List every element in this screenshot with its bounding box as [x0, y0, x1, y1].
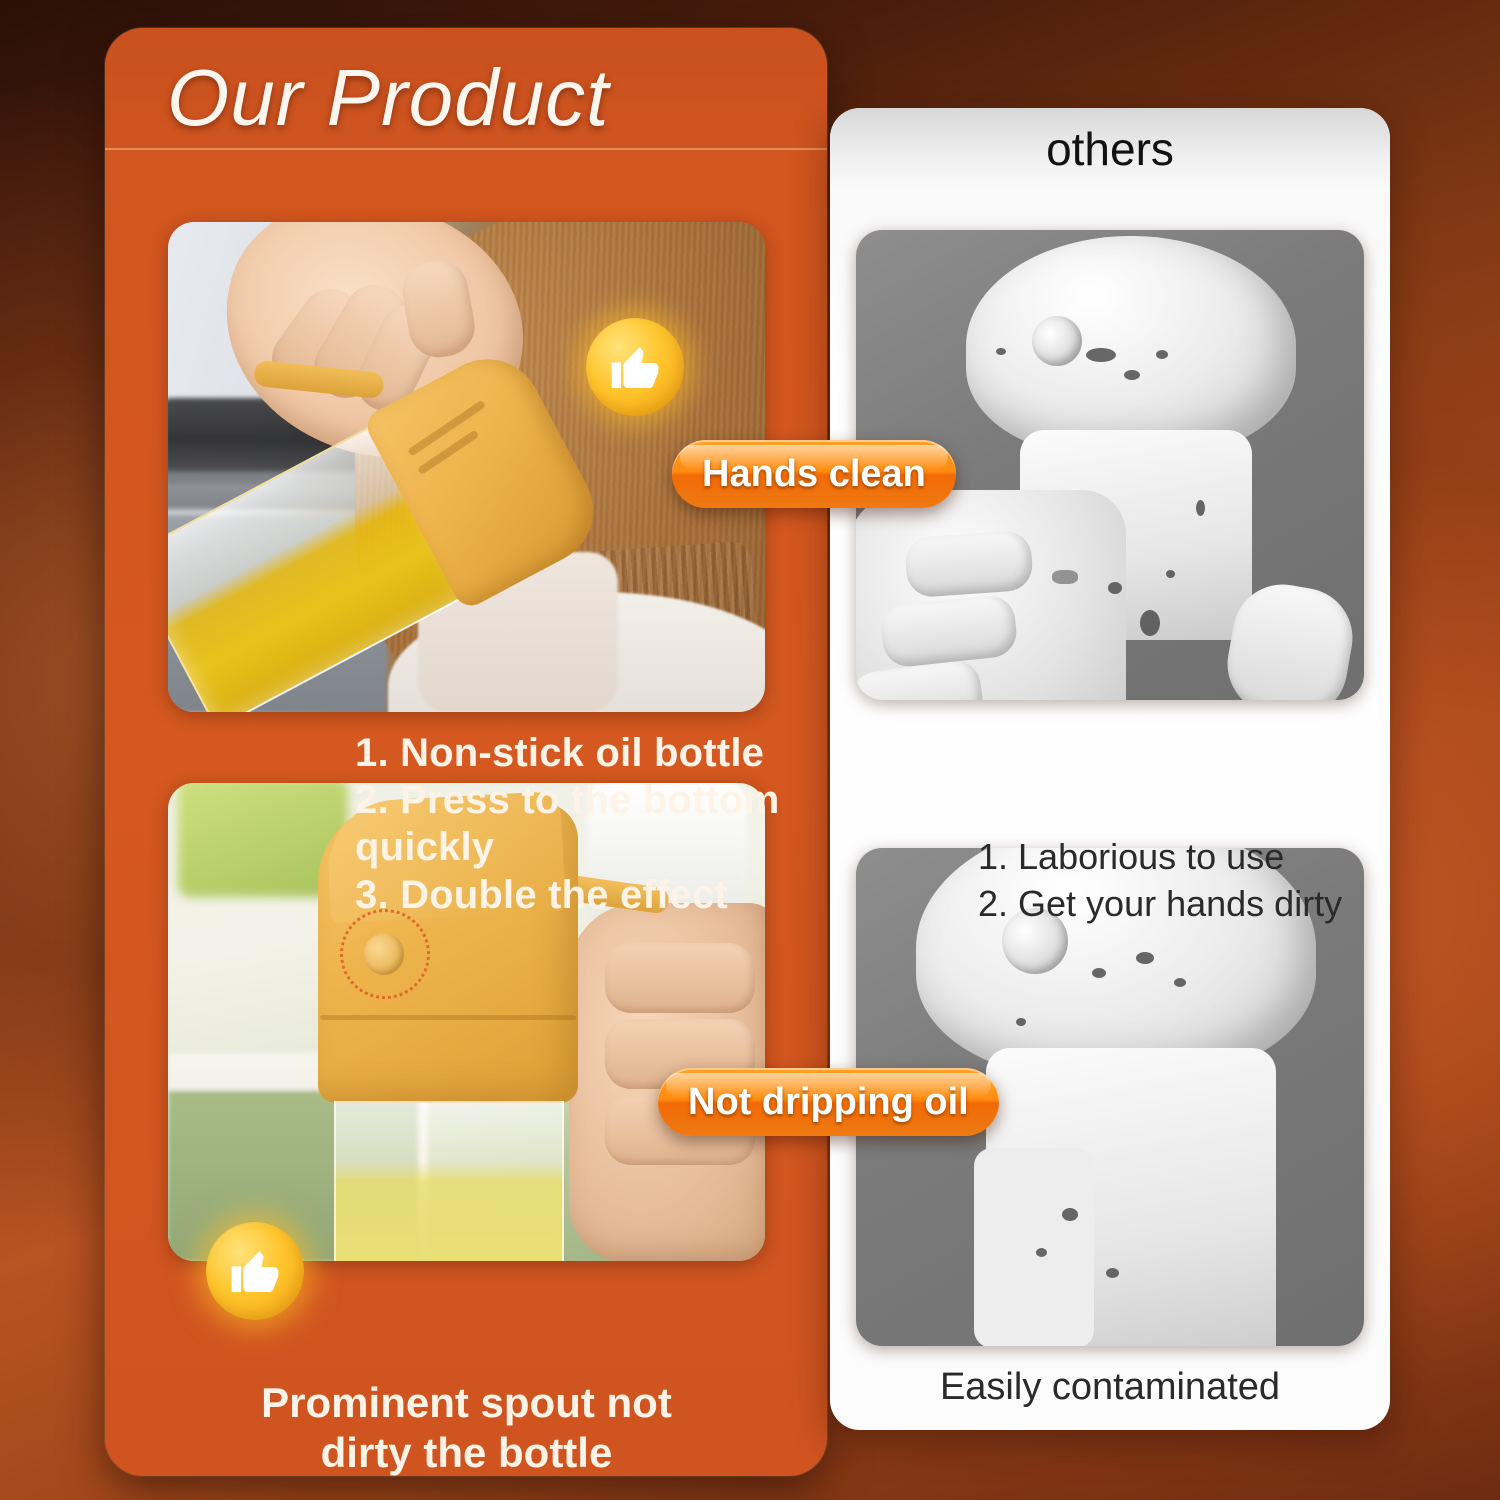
oil-spot [1106, 1268, 1119, 1278]
oil-spot [1136, 952, 1154, 964]
white-bottle-cap [966, 236, 1296, 456]
oil-spot [1156, 350, 1168, 359]
finger-shape [879, 593, 1019, 669]
badge-hands-clean-label: Hands clean [702, 453, 926, 496]
oil-spot [996, 348, 1006, 355]
oil-spot [1108, 582, 1122, 594]
drawback-item-2: 2. Get your hands dirty [978, 881, 1342, 928]
thumbs-up-icon [206, 1222, 304, 1320]
drawback-item-1: 1. Laborious to use [978, 834, 1342, 881]
oil-spot [1196, 500, 1205, 516]
cap-press-button [1032, 316, 1082, 366]
benefits-list: 1. Non-stick oil bottle 2. Press to the … [355, 730, 827, 919]
oil-spot [1086, 348, 1116, 362]
product-bottom-caption: Prominent spout not dirty the bottle [168, 1378, 765, 1476]
oil-spot [1016, 1018, 1026, 1026]
finger-shape [904, 530, 1034, 599]
oil-spot [1140, 610, 1160, 636]
badge-not-dripping-oil: Not dripping oil [658, 1068, 999, 1136]
benefit-item-3: 3. Double the effect [355, 872, 827, 919]
drawbacks-list: 1. Laborious to use 2. Get your hands di… [978, 834, 1342, 928]
caption-line-1: Prominent spout not [168, 1378, 765, 1428]
oil-spot [1062, 1208, 1078, 1221]
oil-spot [1174, 978, 1186, 987]
benefit-item-2: 2. Press to the bottom quickly [355, 777, 827, 871]
cap-side-panel [974, 1148, 1094, 1346]
others-title: others [830, 122, 1390, 176]
cap-seam [320, 1015, 576, 1020]
thumbs-up-icon [586, 318, 684, 416]
hand-shape [856, 490, 1126, 700]
badge-hands-clean: Hands clean [672, 440, 956, 508]
caption-line-2: dirty the bottle [168, 1428, 765, 1476]
oil-spot [1036, 1248, 1047, 1257]
oil-streak [1052, 570, 1078, 584]
cap-press-button [364, 933, 404, 975]
oil-spot [1124, 370, 1140, 380]
oil-spot [1166, 570, 1175, 578]
page-title: Our Product [167, 52, 609, 144]
bottle-glass-body [334, 1101, 564, 1261]
badge-not-dripping-oil-label: Not dripping oil [688, 1081, 969, 1124]
benefit-item-1: 1. Non-stick oil bottle [355, 730, 827, 777]
oil-spot [1092, 968, 1106, 978]
knuckle-shape [605, 943, 755, 1013]
others-panel: others 1. Laborio [830, 108, 1390, 1430]
others-bottom-caption: Easily contaminated [830, 1366, 1390, 1409]
